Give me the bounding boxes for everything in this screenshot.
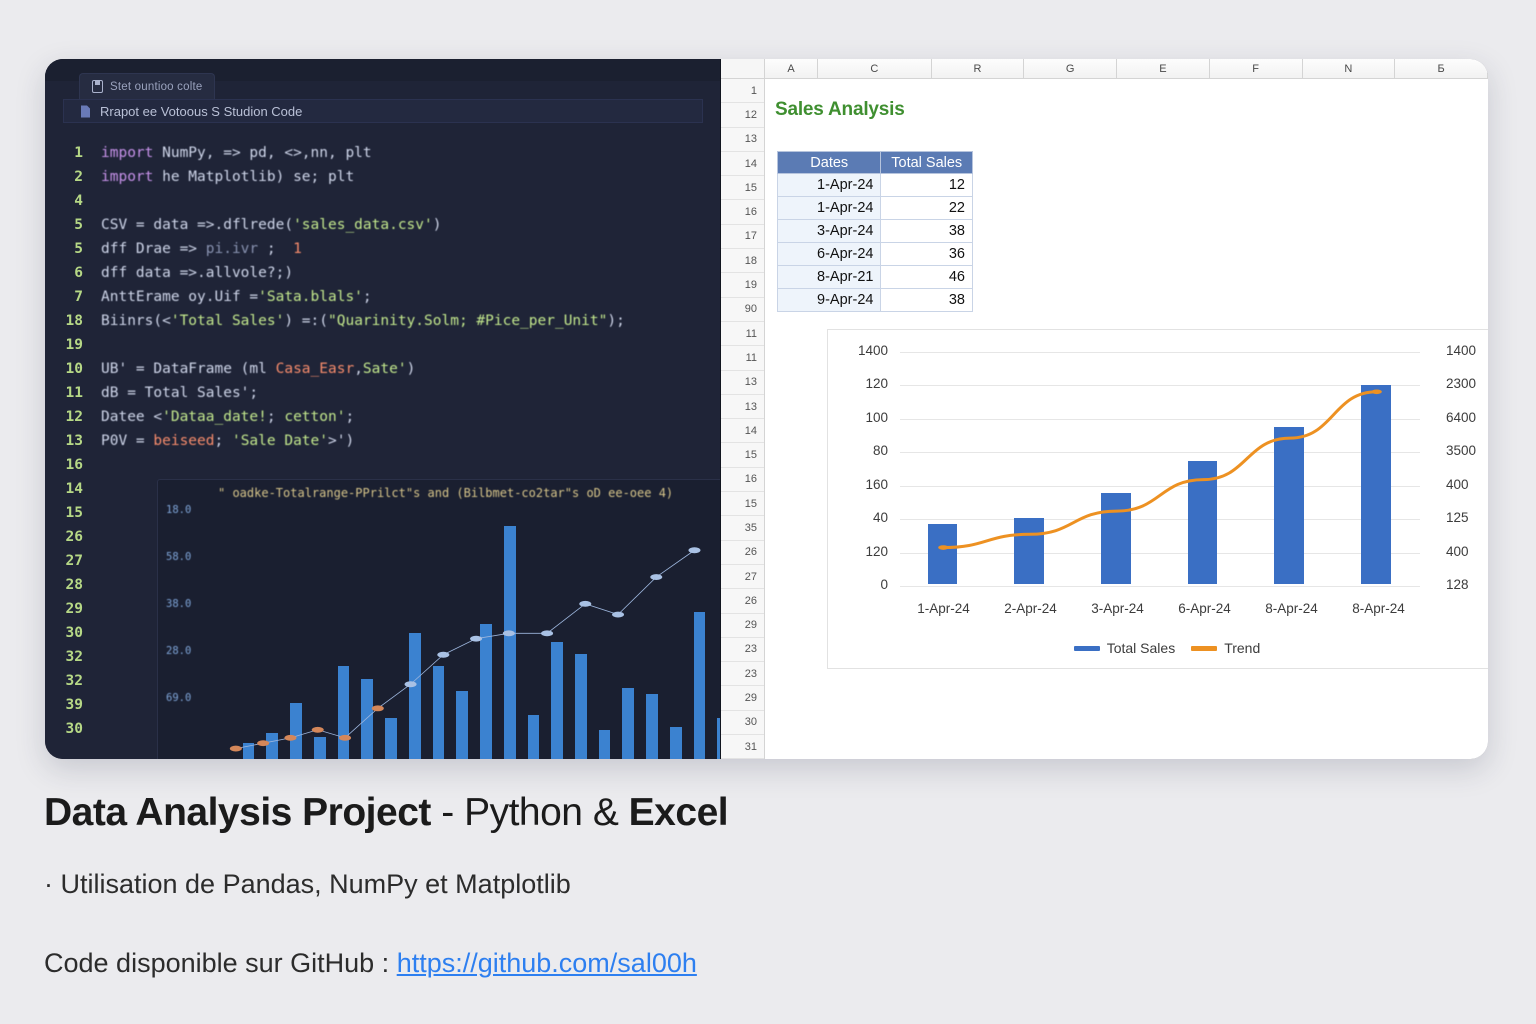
cell-date[interactable]: 6-Apr-24 <box>778 243 881 266</box>
line-number: 5 <box>45 213 101 237</box>
cell-total-sales[interactable]: 38 <box>881 289 973 312</box>
sheet-title: Sales Analysis <box>775 99 905 121</box>
line-number: 1 <box>45 141 101 165</box>
code-text: dff data =>.allvole?;) <box>101 261 293 285</box>
cell-date[interactable]: 1-Apr-24 <box>778 197 881 220</box>
code-line[interactable]: 5CSV = data =>.dflrede('sales_data.csv') <box>45 213 720 237</box>
column-header[interactable]: G <box>1024 59 1117 78</box>
matplotlib-ytick: 69.0 <box>166 692 191 704</box>
editor-tab-label: Stet ountioo colte <box>110 81 202 93</box>
code-line[interactable]: 18Biinrs(<'Total Sales') =:("Quarinity.S… <box>45 309 720 333</box>
secondary-y-axis-tick: 6400 <box>1446 410 1488 425</box>
line-number: 39 <box>45 693 101 717</box>
column-header[interactable]: Б <box>1395 59 1488 78</box>
line-number: 16 <box>45 453 101 477</box>
x-axis-label: 1-Apr-24 <box>917 601 970 616</box>
cell-date[interactable]: 8-Apr-21 <box>778 266 881 289</box>
row-header[interactable]: 13 <box>721 395 764 419</box>
row-header[interactable]: 1 <box>721 79 764 103</box>
code-line[interactable]: 6dff data =>.allvole?;) <box>45 261 720 285</box>
table-row[interactable]: 6-Apr-2436 <box>778 243 973 266</box>
table-column-header[interactable]: Dates <box>778 152 881 174</box>
y-axis-tick: 120 <box>842 376 888 391</box>
matplotlib-plot-area <box>214 502 721 759</box>
cell-total-sales[interactable]: 38 <box>881 220 973 243</box>
code-text: CSV = data =>.dflrede('sales_data.csv') <box>101 213 441 237</box>
line-number: 32 <box>45 645 101 669</box>
row-header[interactable]: 26 <box>721 589 764 613</box>
table-header-row: DatesTotal Sales <box>778 152 973 174</box>
screenshot-card: Stet ountioo colte Rrapot ee Votoous S S… <box>45 59 1488 759</box>
y-axis-tick: 80 <box>842 443 888 458</box>
x-axis-label: 6-Apr-24 <box>1178 601 1231 616</box>
row-header[interactable]: 23 <box>721 662 764 686</box>
line-number: 12 <box>45 405 101 429</box>
code-line[interactable]: 19 <box>45 333 720 357</box>
row-header-gutter[interactable]: 1121314151617181990111113131415161535262… <box>721 79 765 759</box>
secondary-y-axis-tick: 1400 <box>1446 343 1488 358</box>
line-number: 30 <box>45 717 101 741</box>
code-text: Biinrs(<'Total Sales') =:("Quarinity.Sol… <box>101 309 625 333</box>
code-line[interactable]: 7AnttErame oy.Uif ='Sata.blals'; <box>45 285 720 309</box>
headline: Data Analysis Project - Python & Excel <box>44 792 1484 835</box>
row-header[interactable]: 16 <box>721 200 764 224</box>
legend-item[interactable]: Trend <box>1191 640 1260 656</box>
cell-total-sales[interactable]: 22 <box>881 197 973 220</box>
column-header-row[interactable]: ACRGEFNБ <box>721 59 1488 79</box>
cell-date[interactable]: 9-Apr-24 <box>778 289 881 312</box>
row-header[interactable]: 16 <box>721 468 764 492</box>
row-header[interactable]: 17 <box>721 225 764 249</box>
secondary-y-axis-tick: 400 <box>1446 477 1488 492</box>
matplotlib-ytick: 38.0 <box>166 598 191 610</box>
row-header[interactable]: 15 <box>721 176 764 200</box>
line-number: 4 <box>45 189 101 213</box>
cell-total-sales[interactable]: 36 <box>881 243 973 266</box>
matplotlib-line-overlay <box>214 502 721 759</box>
gridline <box>900 586 1420 587</box>
secondary-y-axis-tick: 128 <box>1446 577 1488 592</box>
y-axis-tick: 40 <box>842 510 888 525</box>
column-header[interactable]: E <box>1117 59 1210 78</box>
headline-part-1: Data Analysis Project <box>44 791 431 834</box>
x-axis-label: 8-Apr-24 <box>1352 601 1405 616</box>
code-line[interactable]: 4 <box>45 189 720 213</box>
line-number: 7 <box>45 285 101 309</box>
code-text: import NumPy, => pd, <>,nn, plt <box>101 141 372 165</box>
x-axis-label: 2-Apr-24 <box>1004 601 1057 616</box>
secondary-y-axis-tick: 400 <box>1446 544 1488 559</box>
github-link[interactable]: https://github.com/sal00h <box>397 948 697 978</box>
spreadsheet-grid[interactable]: Sales Analysis DatesTotal Sales 1-Apr-24… <box>765 79 1488 759</box>
row-header[interactable]: 90 <box>721 298 764 322</box>
line-number: 18 <box>45 309 101 333</box>
row-header[interactable]: 13 <box>721 371 764 395</box>
select-all-corner[interactable] <box>721 59 765 78</box>
code-editor-pane: Stet ountioo colte Rrapot ee Votoous S S… <box>45 59 721 759</box>
y-axis-tick: 0 <box>842 577 888 592</box>
trend-line <box>900 352 1420 584</box>
matplotlib-figure: " oadke-Totalrange-PPrilct"s and (Bilbme… <box>157 479 721 759</box>
line-number: 11 <box>45 381 101 405</box>
row-header[interactable]: 11 <box>721 322 764 346</box>
row-header[interactable]: 13 <box>721 128 764 152</box>
code-line[interactable]: 10UB' = DataFrame (ml Casa_Easr,Sate') <box>45 357 720 381</box>
legend-swatch <box>1074 646 1100 651</box>
legend-label: Trend <box>1224 640 1260 656</box>
code-line[interactable]: 13P0V = beiseed; 'Sale Date'>') <box>45 429 720 453</box>
line-number: 6 <box>45 261 101 285</box>
line-number: 5 <box>45 237 101 261</box>
table-row[interactable]: 1-Apr-2422 <box>778 197 973 220</box>
legend-label: Total Sales <box>1107 640 1175 656</box>
row-header[interactable]: 15 <box>721 492 764 516</box>
code-text: AnttErame oy.Uif ='Sata.blals'; <box>101 285 372 309</box>
line-number: 13 <box>45 429 101 453</box>
column-header[interactable]: R <box>932 59 1025 78</box>
line-number: 27 <box>45 549 101 573</box>
row-header[interactable]: 27 <box>721 565 764 589</box>
row-header[interactable]: 12 <box>721 103 764 127</box>
matplotlib-ytick: 18.0 <box>166 504 191 516</box>
row-header[interactable]: 35 <box>721 516 764 540</box>
y-axis-tick: 160 <box>842 477 888 492</box>
code-line[interactable]: 12Datee <'Dataa_date!; cetton'; <box>45 405 720 429</box>
code-line[interactable]: 16 <box>45 453 720 477</box>
line-number: 32 <box>45 669 101 693</box>
save-icon <box>92 80 103 93</box>
row-header[interactable]: 15 <box>721 443 764 467</box>
code-text: UB' = DataFrame (ml Casa_Easr,Sate') <box>101 357 415 381</box>
table-row[interactable]: 3-Apr-2438 <box>778 220 973 243</box>
column-header[interactable]: F <box>1210 59 1303 78</box>
code-text: Datee <'Dataa_date!; cetton'; <box>101 405 354 429</box>
row-header[interactable]: 31 <box>721 735 764 759</box>
line-number: 10 <box>45 357 101 381</box>
line-number: 26 <box>45 525 101 549</box>
row-header[interactable]: 29 <box>721 686 764 710</box>
line-number: 15 <box>45 501 101 525</box>
excel-chart-plot-area <box>900 352 1420 584</box>
secondary-y-axis-tick: 2300 <box>1446 376 1488 391</box>
editor-tab[interactable]: Stet ountioo colte <box>79 73 215 99</box>
sales-data-table[interactable]: DatesTotal Sales 1-Apr-24121-Apr-24223-A… <box>777 151 973 312</box>
y-axis-tick: 1400 <box>842 343 888 358</box>
github-line: Code disponible sur GitHub : https://git… <box>44 948 1484 979</box>
column-header[interactable]: A <box>765 59 818 78</box>
secondary-y-axis-tick: 3500 <box>1446 443 1488 458</box>
cell-total-sales[interactable]: 46 <box>881 266 973 289</box>
code-text: import he Matplotlib) se; plt <box>101 165 354 189</box>
line-number: 2 <box>45 165 101 189</box>
caption-block: Data Analysis Project - Python & Excel ·… <box>44 792 1484 979</box>
headline-part-2: Python & <box>464 791 629 834</box>
column-header[interactable]: N <box>1303 59 1396 78</box>
y-axis-tick: 100 <box>842 410 888 425</box>
line-number: 28 <box>45 573 101 597</box>
excel-chart[interactable]: Total SalesTrend 14001201008016040120014… <box>827 329 1488 669</box>
headline-part-3: Excel <box>629 791 728 834</box>
excel-chart-legend: Total SalesTrend <box>828 640 1488 656</box>
row-header[interactable]: 30 <box>721 711 764 735</box>
line-number: 29 <box>45 597 101 621</box>
matplotlib-title: " oadke-Totalrange-PPrilct"s and (Bilbme… <box>218 486 673 500</box>
code-line[interactable]: 5dff Drae => pi.ivr ; 1 <box>45 237 720 261</box>
y-axis-tick: 120 <box>842 544 888 559</box>
x-axis-label: 8-Apr-24 <box>1265 601 1318 616</box>
table-column-header[interactable]: Total Sales <box>881 152 973 174</box>
bullet-line: · Utilisation de Pandas, NumPy et Matplo… <box>44 869 1484 900</box>
code-line[interactable]: 11dB = Total Sales'; <box>45 381 720 405</box>
row-header[interactable]: 19 <box>721 273 764 297</box>
line-number: 14 <box>45 477 101 501</box>
table-body[interactable]: 1-Apr-24121-Apr-24223-Apr-24386-Apr-2436… <box>778 174 973 312</box>
table-row[interactable]: 1-Apr-2412 <box>778 174 973 197</box>
line-number: 30 <box>45 621 101 645</box>
code-text: dB = Total Sales'; <box>101 381 258 405</box>
legend-swatch <box>1191 646 1217 651</box>
row-header[interactable]: 29 <box>721 614 764 638</box>
excel-pane: ACRGEFNБ 1121314151617181990111113131415… <box>721 59 1488 759</box>
code-text: dff Drae => pi.ivr ; 1 <box>101 237 302 261</box>
cell-date[interactable]: 3-Apr-24 <box>778 220 881 243</box>
table-row[interactable]: 9-Apr-2438 <box>778 289 973 312</box>
x-axis-label: 3-Apr-24 <box>1091 601 1144 616</box>
github-label: Code disponible sur GitHub : <box>44 948 397 978</box>
row-header[interactable]: 14 <box>721 419 764 443</box>
row-header[interactable]: 18 <box>721 249 764 273</box>
cell-total-sales[interactable]: 12 <box>881 174 973 197</box>
code-text: P0V = beiseed; 'Sale Date'>') <box>101 429 354 453</box>
column-header[interactable]: C <box>818 59 932 78</box>
cell-date[interactable]: 1-Apr-24 <box>778 174 881 197</box>
code-line[interactable]: 1import NumPy, => pd, <>,nn, plt <box>45 141 720 165</box>
file-icon <box>80 105 91 118</box>
table-row[interactable]: 8-Apr-2146 <box>778 266 973 289</box>
row-header[interactable]: 14 <box>721 152 764 176</box>
line-number: 19 <box>45 333 101 357</box>
row-header[interactable]: 26 <box>721 541 764 565</box>
row-header[interactable]: 23 <box>721 638 764 662</box>
legend-item[interactable]: Total Sales <box>1074 640 1175 656</box>
editor-title-bar: Rrapot ee Votoous S Studion Code <box>63 99 703 123</box>
row-header[interactable]: 11 <box>721 346 764 370</box>
secondary-y-axis-tick: 125 <box>1446 510 1488 525</box>
matplotlib-ytick: 28.0 <box>166 645 191 657</box>
matplotlib-ytick: 58.0 <box>166 551 191 563</box>
code-line[interactable]: 2import he Matplotlib) se; plt <box>45 165 720 189</box>
headline-separator: - <box>431 791 464 834</box>
editor-title-label: Rrapot ee Votoous S Studion Code <box>100 104 302 119</box>
